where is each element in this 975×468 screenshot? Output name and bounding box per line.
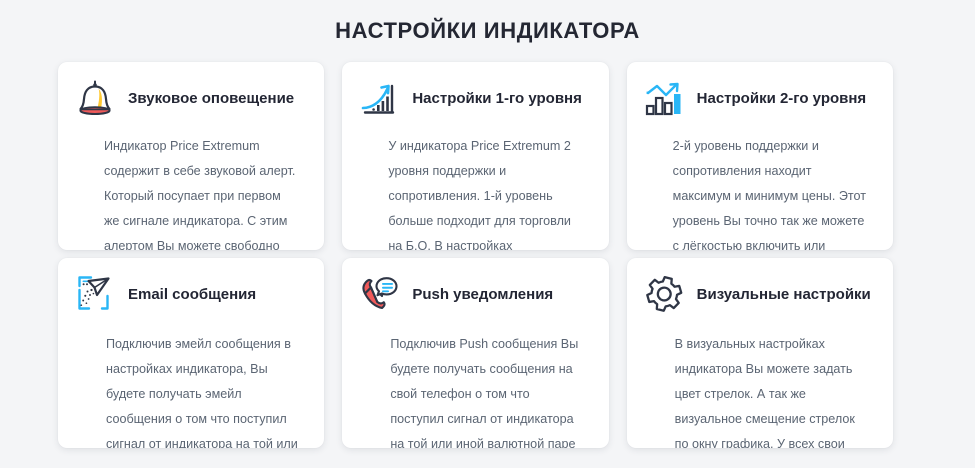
card-header: Настройки 2-го уровня xyxy=(641,74,871,124)
card-title: Push уведомления xyxy=(412,286,553,304)
feature-card-grid: Звуковое оповещение Индикатор Price Extr… xyxy=(58,62,893,448)
card-header: Визуальные настройки xyxy=(641,270,871,320)
card-header: Email сообщения xyxy=(72,270,302,320)
card-description: В визуальных настройках индикатора Вы мо… xyxy=(641,332,871,448)
card-title: Настройки 1-го уровня xyxy=(412,90,582,108)
growth-chart-arrow-icon xyxy=(356,76,402,122)
feature-card-push-notifications[interactable]: Push уведомления Подключив Push сообщени… xyxy=(342,258,608,448)
phone-message-icon xyxy=(356,272,402,318)
feature-card-level-1-settings[interactable]: Настройки 1-го уровня У индикатора Price… xyxy=(342,62,608,250)
card-title: Email сообщения xyxy=(128,286,256,304)
feature-card-sound-alert[interactable]: Звуковое оповещение Индикатор Price Extr… xyxy=(58,62,324,250)
feature-card-level-2-settings[interactable]: Настройки 2-го уровня 2-й уровень поддер… xyxy=(627,62,893,250)
card-header: Настройки 1-го уровня xyxy=(356,74,586,124)
card-title: Настройки 2-го уровня xyxy=(697,90,867,108)
page-root: НАСТРОЙКИ ИНДИКАТОРА Звуковое оповещение xyxy=(0,0,975,468)
feature-card-email-messages[interactable]: Email сообщения Подключив эмейл сообщени… xyxy=(58,258,324,448)
card-title: Звуковое оповещение xyxy=(128,90,294,108)
card-description: Подключив эмейл сообщения в настройках и… xyxy=(72,332,302,448)
paper-plane-email-icon xyxy=(72,272,118,318)
bell-icon xyxy=(72,76,118,122)
bar-chart-trend-icon xyxy=(641,76,687,122)
card-header: Push уведомления xyxy=(356,270,586,320)
gear-icon xyxy=(641,272,687,318)
card-description: У индикатора Price Extremum 2 уровня под… xyxy=(356,134,586,250)
card-description: Индикатор Price Extremum содержит в себе… xyxy=(72,134,302,250)
page-title: НАСТРОЙКИ ИНДИКАТОРА xyxy=(0,18,975,44)
card-description: 2-й уровень поддержки и сопротивления на… xyxy=(641,134,871,250)
card-description: Подключив Push сообщения Вы будете получ… xyxy=(356,332,586,448)
card-header: Звуковое оповещение xyxy=(72,74,302,124)
card-title: Визуальные настройки xyxy=(697,286,871,304)
feature-card-visual-settings[interactable]: Визуальные настройки В визуальных настро… xyxy=(627,258,893,448)
